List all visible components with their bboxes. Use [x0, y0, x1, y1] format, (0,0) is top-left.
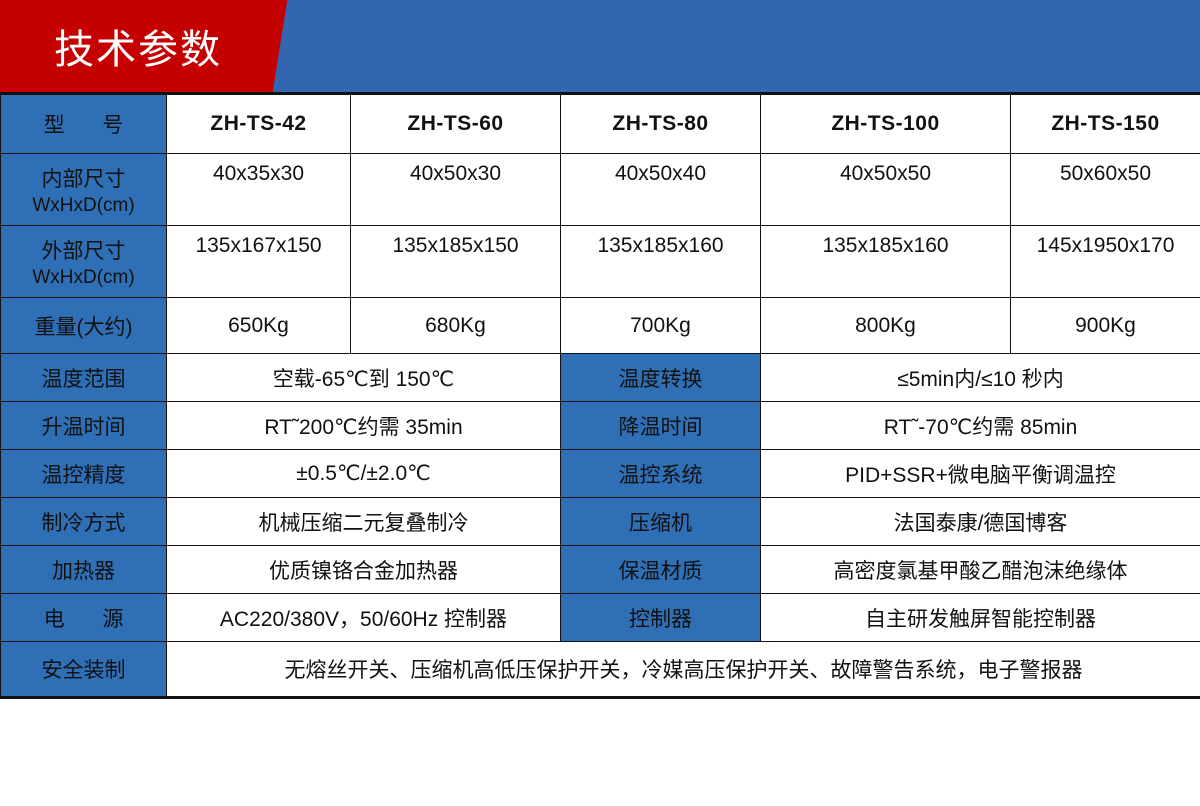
- row-label-safety-devices: 安全装制: [1, 642, 167, 698]
- row-label-power-supply: 电 源: [1, 594, 167, 642]
- row-temperature-accuracy: 温控精度 ±0.5℃/±2.0℃ 温控系统 PID+SSR+微电脑平衡调温控: [1, 450, 1200, 498]
- external-dim-value-3: 135x185x160: [561, 226, 761, 298]
- row-label-compressor: 压缩机: [561, 498, 761, 546]
- compressor-value: 法国泰康/德国博客: [761, 498, 1200, 546]
- cooling-time-value: RT˜-70℃约需 85min: [761, 402, 1200, 450]
- internal-dim-value-5: 50x60x50: [1011, 154, 1200, 226]
- external-dim-value-1: 135x167x150: [167, 226, 351, 298]
- row-power-supply: 电 源 AC220/380V，50/60Hz 控制器 控制器 自主研发触屏智能控…: [1, 594, 1200, 642]
- row-heater: 加热器 优质镍铬合金加热器 保温材质 高密度氯基甲酸乙醋泡沫绝缘体: [1, 546, 1200, 594]
- model-cell-4: ZH-TS-100: [761, 94, 1011, 154]
- header-label-model: 型 号: [1, 94, 167, 154]
- controller-value: 自主研发触屏智能控制器: [761, 594, 1200, 642]
- heater-value: 优质镍铬合金加热器: [167, 546, 561, 594]
- temperature-conversion-value: ≤5min内/≤10 秒内: [761, 354, 1200, 402]
- row-label-weight: 重量(大约): [1, 298, 167, 354]
- row-heating-time: 升温时间 RT˜200℃约需 35min 降温时间 RT˜-70℃约需 85mi…: [1, 402, 1200, 450]
- row-label-heating-time: 升温时间: [1, 402, 167, 450]
- safety-devices-value: 无熔丝开关、压缩机高低压保护开关，冷媒高压保护开关、故障警告系统，电子警报器: [167, 642, 1200, 698]
- model-cell-5: ZH-TS-150: [1011, 94, 1200, 154]
- weight-value-3: 700Kg: [561, 298, 761, 354]
- internal-dim-value-4: 40x50x50: [761, 154, 1011, 226]
- control-system-value: PID+SSR+微电脑平衡调温控: [761, 450, 1200, 498]
- page-title: 技术参数: [54, 0, 222, 92]
- spec-table: 型 号 ZH-TS-42 ZH-TS-60 ZH-TS-80 ZH-TS-100…: [0, 92, 1200, 699]
- heating-time-value: RT˜200℃约需 35min: [167, 402, 561, 450]
- internal-dim-value-2: 40x50x30: [351, 154, 561, 226]
- row-refrigeration-method: 制冷方式 机械压缩二元复叠制冷 压缩机 法国泰康/德国博客: [1, 498, 1200, 546]
- external-dim-value-4: 135x185x160: [761, 226, 1011, 298]
- weight-value-4: 800Kg: [761, 298, 1011, 354]
- row-label-controller: 控制器: [561, 594, 761, 642]
- row-label-temperature-range: 温度范围: [1, 354, 167, 402]
- row-label-external-dimensions-line2: WxHxD(cm): [1, 267, 166, 289]
- external-dim-value-5: 145x1950x170: [1011, 226, 1200, 298]
- refrigeration-method-value: 机械压缩二元复叠制冷: [167, 498, 561, 546]
- weight-value-2: 680Kg: [351, 298, 561, 354]
- model-cell-2: ZH-TS-60: [351, 94, 561, 154]
- internal-dim-value-1: 40x35x30: [167, 154, 351, 226]
- header-label-model-text: 型 号: [28, 114, 140, 137]
- table-header-row: 型 号 ZH-TS-42 ZH-TS-60 ZH-TS-80 ZH-TS-100…: [1, 94, 1200, 154]
- row-external-dimensions: 外部尺寸 WxHxD(cm) 135x167x150 135x185x150 1…: [1, 226, 1200, 298]
- model-cell-3: ZH-TS-80: [561, 94, 761, 154]
- row-label-cooling-time: 降温时间: [561, 402, 761, 450]
- row-label-internal-dimensions: 内部尺寸 WxHxD(cm): [1, 154, 167, 226]
- spec-sheet-page: 技术参数 型 号 ZH-TS-42 ZH-TS-60 ZH-TS-80 ZH-: [0, 0, 1200, 806]
- row-weight: 重量(大约) 650Kg 680Kg 700Kg 800Kg 900Kg: [1, 298, 1200, 354]
- row-label-power-supply-text: 电 源: [28, 608, 140, 631]
- row-safety-devices: 安全装制 无熔丝开关、压缩机高低压保护开关，冷媒高压保护开关、故障警告系统，电子…: [1, 642, 1200, 698]
- row-label-temperature-conversion: 温度转换: [561, 354, 761, 402]
- spec-table-wrap: 型 号 ZH-TS-42 ZH-TS-60 ZH-TS-80 ZH-TS-100…: [0, 92, 1200, 699]
- row-label-insulation-material: 保温材质: [561, 546, 761, 594]
- weight-value-1: 650Kg: [167, 298, 351, 354]
- row-label-control-system: 温控系统: [561, 450, 761, 498]
- row-label-temperature-accuracy: 温控精度: [1, 450, 167, 498]
- temperature-accuracy-value: ±0.5℃/±2.0℃: [167, 450, 561, 498]
- internal-dim-value-3: 40x50x40: [561, 154, 761, 226]
- row-temperature-range: 温度范围 空载-65℃到 150℃ 温度转换 ≤5min内/≤10 秒内: [1, 354, 1200, 402]
- weight-value-5: 900Kg: [1011, 298, 1200, 354]
- row-label-refrigeration-method: 制冷方式: [1, 498, 167, 546]
- row-label-external-dimensions-line1: 外部尺寸: [42, 240, 126, 263]
- model-cell-1: ZH-TS-42: [167, 94, 351, 154]
- header-banner: 技术参数: [0, 0, 1200, 92]
- insulation-material-value: 高密度氯基甲酸乙醋泡沫绝缘体: [761, 546, 1200, 594]
- row-label-internal-dimensions-line2: WxHxD(cm): [1, 195, 166, 217]
- temperature-range-value: 空载-65℃到 150℃: [167, 354, 561, 402]
- row-label-external-dimensions: 外部尺寸 WxHxD(cm): [1, 226, 167, 298]
- external-dim-value-2: 135x185x150: [351, 226, 561, 298]
- row-internal-dimensions: 内部尺寸 WxHxD(cm) 40x35x30 40x50x30 40x50x4…: [1, 154, 1200, 226]
- power-supply-value: AC220/380V，50/60Hz 控制器: [167, 594, 561, 642]
- row-label-internal-dimensions-line1: 内部尺寸: [42, 168, 126, 191]
- row-label-heater: 加热器: [1, 546, 167, 594]
